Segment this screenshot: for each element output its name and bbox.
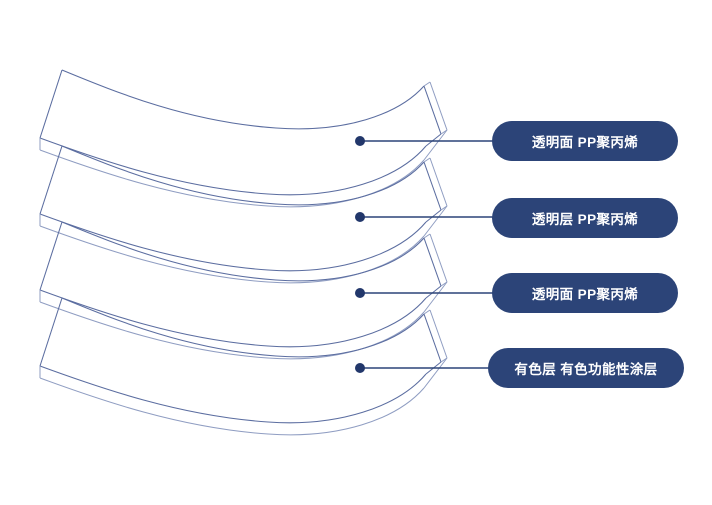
layer-stack-illustration bbox=[0, 0, 712, 505]
layer-label-2[interactable]: 透明层 PP聚丙烯 bbox=[492, 198, 678, 238]
connector-dot-4 bbox=[355, 363, 365, 373]
connector-dot-1 bbox=[355, 136, 365, 146]
connector-2 bbox=[355, 212, 496, 222]
layer-label-4[interactable]: 有色层 有色功能性涂层 bbox=[488, 348, 684, 388]
connector-dot-2 bbox=[355, 212, 365, 222]
sheet-layer-2 bbox=[40, 146, 447, 283]
connector-3 bbox=[355, 288, 496, 298]
layer-label-3[interactable]: 透明面 PP聚丙烯 bbox=[492, 273, 678, 313]
connector-dot-3 bbox=[355, 288, 365, 298]
connector-4 bbox=[355, 363, 492, 373]
sheet-layer-3 bbox=[40, 222, 447, 359]
sheet-layer-1 bbox=[40, 70, 447, 207]
sheet-layer-4 bbox=[40, 298, 447, 435]
layer-label-1[interactable]: 透明面 PP聚丙烯 bbox=[492, 121, 678, 161]
connector-1 bbox=[355, 136, 496, 146]
diagram-canvas: 透明面 PP聚丙烯 透明层 PP聚丙烯 透明面 PP聚丙烯 有色层 有色功能性涂… bbox=[0, 0, 712, 505]
